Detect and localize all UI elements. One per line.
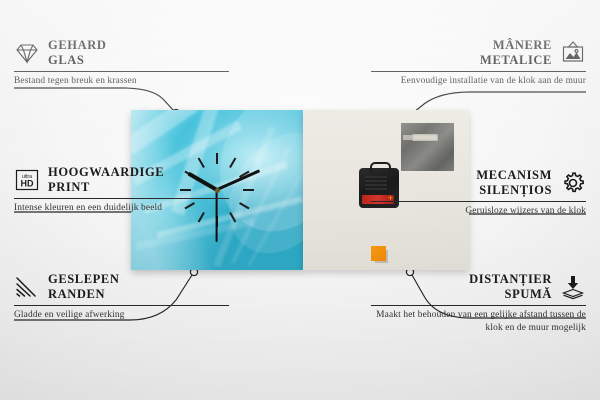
feature-manere-metalice: MÂNERE METALICE Eenvoudige installatie v…	[371, 38, 586, 88]
infographic-canvas: GEHARD GLAS Bestand tegen breuk en krass…	[0, 0, 600, 400]
diamond-icon	[14, 40, 40, 66]
feature-title-line1: DISTANȚIER	[469, 272, 552, 287]
feature-title-line1: GEHARD	[48, 38, 106, 53]
feature-title-line2: GLAS	[48, 53, 84, 68]
feature-geslepen-randen: GESLEPEN RANDEN Gladde en veilige afwerk…	[14, 272, 229, 322]
divider	[14, 305, 229, 306]
feature-distantier-spuma: DISTANȚIER SPUMĂ Maakt het behouden van …	[371, 272, 586, 334]
feature-title-line2: PRINT	[48, 180, 90, 195]
feature-gehard-glas: GEHARD GLAS Bestand tegen breuk en krass…	[14, 38, 229, 88]
feature-title-line2: SPUMĂ	[505, 287, 552, 302]
divider	[371, 305, 586, 306]
divider	[14, 198, 229, 199]
feature-title-line2: SILENȚIOS	[479, 183, 552, 198]
feature-title-line1: GESLEPEN	[48, 272, 120, 287]
feature-title-line2: RANDEN	[48, 287, 105, 302]
feature-description: Bestand tegen breuk en krassen	[14, 75, 229, 88]
bevel-lines-icon	[14, 274, 40, 300]
feature-hoogwaardige-print: ultra HD HOOGWAARDIGE PRINT Intense kleu…	[14, 165, 229, 215]
feature-description: Gladde en veilige afwerking	[14, 309, 229, 322]
feature-title-line1: MÂNERE	[493, 38, 552, 53]
feature-title-line1: HOOGWAARDIGE	[48, 165, 164, 180]
arrow-into-layers-icon	[560, 274, 586, 300]
ultra-hd-icon: ultra HD	[14, 167, 40, 193]
feature-mecanism-silentios: MECANISM SILENȚIOS Geruisloze wijzers va…	[371, 168, 586, 218]
metal-hanger-plate	[401, 123, 454, 171]
feature-title-line2: METALICE	[480, 53, 552, 68]
svg-text:HD: HD	[21, 179, 34, 189]
feature-description: Intense kleuren en een duidelijk beeld	[14, 202, 229, 215]
feature-description: Geruisloze wijzers van de klok	[371, 205, 586, 218]
feature-description: Maakt het behouden van een gelijke afsta…	[371, 309, 586, 334]
divider	[371, 201, 586, 202]
foam-spacer	[371, 246, 386, 261]
feature-title-line1: MECANISM	[476, 168, 552, 183]
divider	[14, 71, 229, 72]
gear-icon	[560, 170, 586, 196]
feature-description: Eenvoudige installatie van de klok aan d…	[371, 75, 586, 88]
divider	[371, 71, 586, 72]
picture-hanger-icon	[560, 40, 586, 66]
